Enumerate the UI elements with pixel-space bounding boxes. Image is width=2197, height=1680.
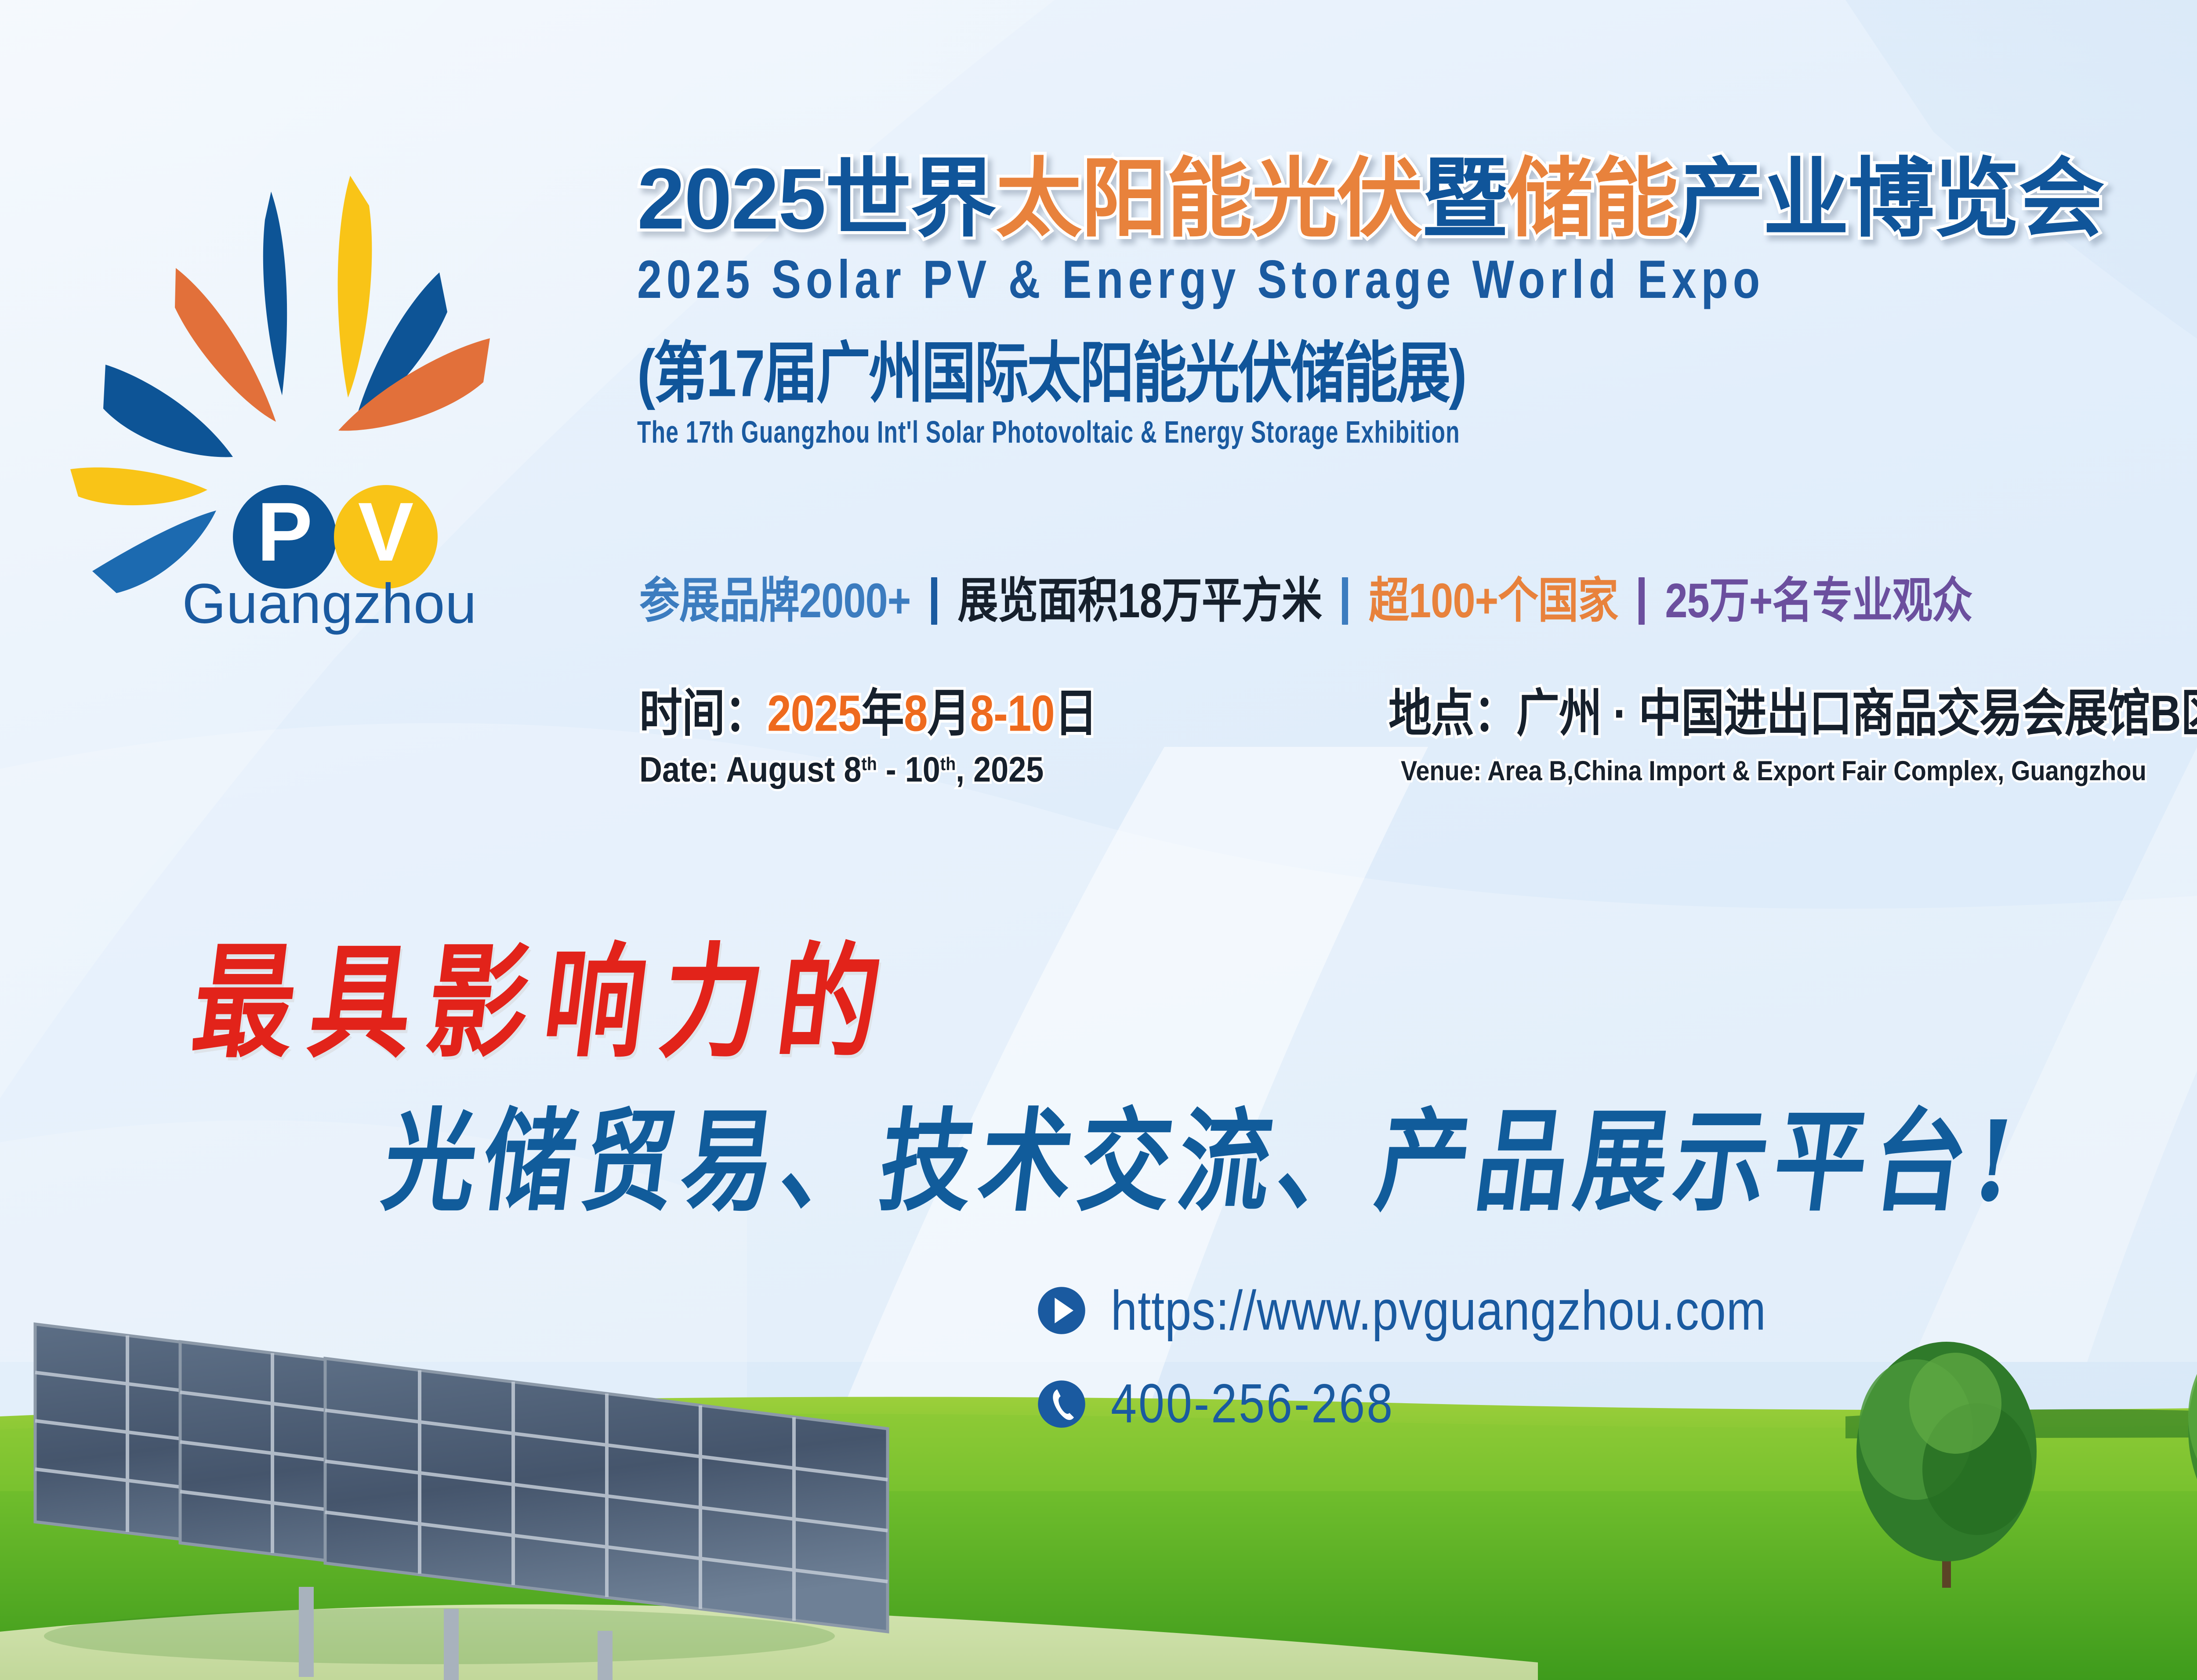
date-month-unit: 月 (928, 684, 970, 742)
phone-circle-icon (1037, 1379, 1086, 1429)
date-month: 8 (904, 684, 928, 742)
stat-exhibition-area: 展览面积18万平方米 (958, 574, 1322, 628)
edition-title-chinese: (第17届广州国际太阳能光伏储能展) (637, 319, 2197, 416)
play-circle-icon (1037, 1286, 1086, 1335)
stat-countries: 超100+个国家 (1369, 574, 1618, 628)
date-en-suffix: , 2025 (956, 750, 1044, 789)
title-block: 2025世界太阳能光伏暨储能产业博览会 2025 Solar PV & Ener… (637, 156, 2197, 441)
stat-exhibiting-brands: 参展品牌2000+ (639, 574, 910, 628)
slogan-line-2: 光储贸易、技术交流、产品展示平台! (376, 1072, 2032, 1232)
phone-number[interactable]: 400-256-268 (1111, 1372, 1394, 1435)
stat-divider-2 (1342, 577, 1348, 625)
venue-chinese: 地点：广州 · 中国进出口商品交易会展馆B区 (1389, 672, 2197, 746)
date-en-ordinal-2: th (940, 753, 956, 774)
date-chinese: 时间：2025年8月8-10日 (639, 672, 1097, 746)
date-year: 2025 (767, 684, 861, 742)
date-en-ordinal-1: th (861, 753, 877, 774)
date-english: Date: August 8th - 10th, 2025 (639, 749, 1097, 790)
website-url[interactable]: https://www.pvguangzhou.com (1111, 1278, 1766, 1343)
venue-english: Venue: Area B,China Import & Export Fair… (1401, 755, 2197, 787)
statistics-row: 参展品牌2000+ 展览面积18万平方米 超100+个国家 25万+名专业观众 (639, 561, 1972, 632)
title-segment-3: 暨 (1422, 151, 1507, 247)
pv-guangzhou-logo: P V Guangzhou (26, 149, 580, 641)
website-row[interactable]: https://www.pvguangzhou.com (1037, 1283, 1766, 1338)
stat-visitors: 25万+名专业观众 (1665, 574, 1972, 628)
date-year-unit: 年 (861, 684, 904, 742)
date-days: 8-10 (970, 684, 1055, 742)
edition-title-english: The 17th Guangzhou Int'l Solar Photovolt… (637, 415, 2197, 450)
logo-v-letter: V (358, 485, 414, 579)
title-segment-4: 储能 (1507, 151, 1678, 247)
title-segment-2: 太阳能光伏 (996, 151, 1422, 247)
main-title-english: 2025 Solar PV & Energy Storage World Exp… (637, 249, 2197, 311)
title-segment-5: 产业博览会 (1678, 151, 2104, 247)
date-en-mid: - 10 (877, 750, 940, 789)
venue-label-cn: 地点： (1389, 684, 1516, 742)
date-en-prefix: Date: August 8 (639, 750, 861, 789)
date-label-cn: 时间： (639, 684, 767, 742)
venue-block: 地点：广州 · 中国进出口商品交易会展馆B区 Venue: Area B,Chi… (1389, 672, 2197, 783)
slogan-line-1: 最具影响力的 (185, 903, 908, 1081)
title-segment-1: 2025世界 (637, 151, 996, 247)
logo-p-letter: P (257, 485, 313, 579)
date-block: 时间：2025年8月8-10日 Date: August 8th - 10th,… (639, 672, 1097, 786)
logo-wordmark: Guangzhou (182, 572, 477, 635)
main-title-chinese: 2025世界太阳能光伏暨储能产业博览会 (637, 156, 2197, 242)
date-day-unit: 日 (1055, 684, 1097, 742)
contact-block: https://www.pvguangzhou.com 400-256-268 (1037, 1283, 1766, 1430)
stat-divider-3 (1639, 577, 1645, 625)
phone-row[interactable]: 400-256-268 (1037, 1377, 1766, 1430)
stat-divider-1 (931, 577, 937, 625)
venue-value-cn: 广州 · 中国进出口商品交易会展馆B区 (1516, 684, 2197, 742)
